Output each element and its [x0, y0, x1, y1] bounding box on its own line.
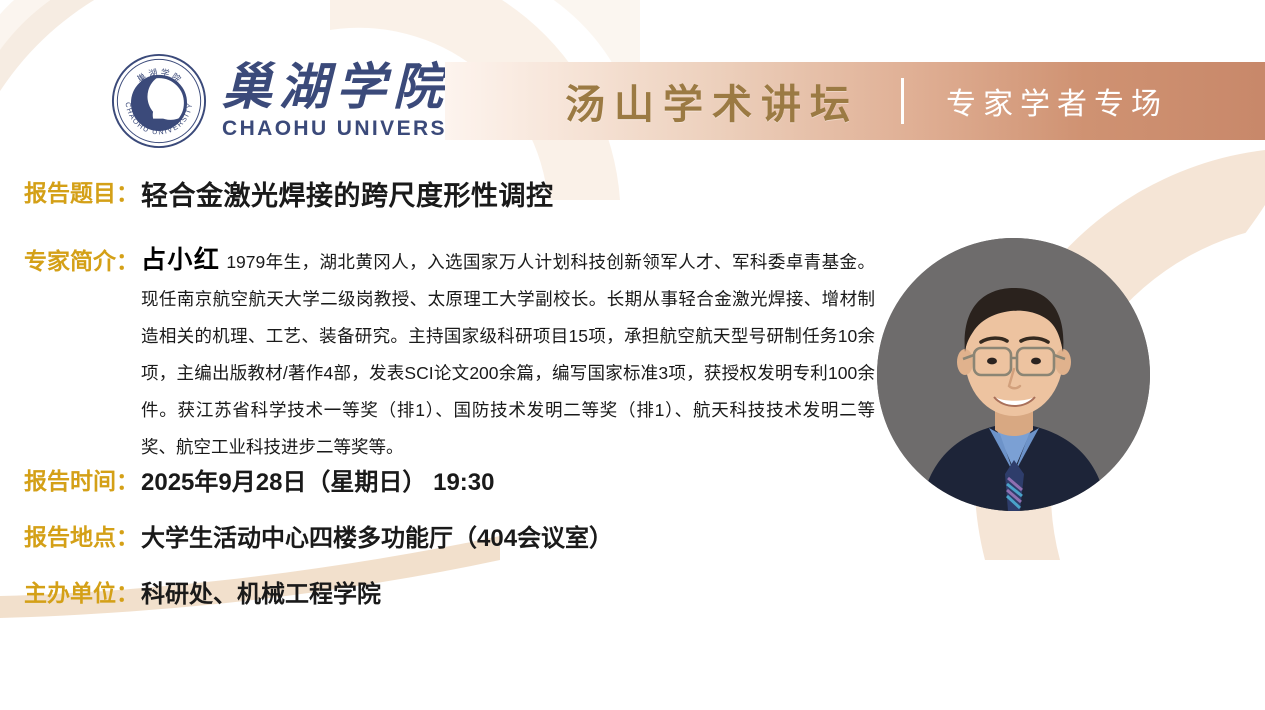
value-report-time: 2025年9月28日（星期日） 19:30 [141, 462, 494, 497]
speaker-bio-text: 1979年生，湖北黄冈人，入选国家万人计划科技创新领军人才、军科委卓青基金。现任… [141, 252, 875, 457]
svg-text:巢 湖 学 院: 巢 湖 学 院 [135, 66, 184, 84]
label-report-time: 报告时间： [24, 462, 139, 496]
forum-banner-title: 汤山学术讲坛 [565, 72, 859, 130]
label-host-organization: 主办单位： [24, 574, 139, 608]
row-report-time: 报告时间： 2025年9月28日（星期日） 19:30 [24, 462, 494, 497]
row-speaker-bio: 专家简介： 占小红1979年生，湖北黄冈人，入选国家万人计划科技创新领军人才、军… [24, 242, 884, 466]
label-report-title: 报告题目： [24, 174, 139, 208]
speaker-bio-body: 占小红1979年生，湖北黄冈人，入选国家万人计划科技创新领军人才、军科委卓青基金… [141, 242, 875, 466]
row-report-place: 报告地点： 大学生活动中心四楼多功能厅（404会议室） [24, 518, 613, 553]
label-speaker-bio: 专家简介： [24, 242, 139, 276]
university-seal-icon: 1977 巢 湖 学 院 CHAOHU UNIVERSITY [110, 52, 208, 150]
university-logo: 1977 巢 湖 学 院 CHAOHU UNIVERSITY 巢湖学院 CHAO… [110, 52, 487, 150]
svg-text:1977: 1977 [154, 109, 165, 115]
banner-divider [901, 78, 904, 124]
label-report-place: 报告地点： [24, 518, 139, 552]
speaker-portrait [877, 238, 1150, 511]
value-report-place: 大学生活动中心四楼多功能厅（404会议室） [141, 518, 613, 553]
value-host-organization: 科研处、机械工程学院 [141, 574, 381, 609]
speaker-portrait-image [877, 238, 1150, 511]
seminar-poster: 1977 巢 湖 学 院 CHAOHU UNIVERSITY 巢湖学院 CHAO… [0, 0, 1265, 710]
speaker-name: 占小红 [141, 246, 220, 274]
poster-header: 1977 巢 湖 学 院 CHAOHU UNIVERSITY 巢湖学院 CHAO… [0, 0, 1265, 160]
row-report-title: 报告题目： 轻合金激光焊接的跨尺度形性调控 [24, 174, 554, 213]
forum-banner: 汤山学术讲坛 专家学者专场 [445, 62, 1265, 140]
row-host-organization: 主办单位： 科研处、机械工程学院 [24, 574, 381, 609]
forum-banner-subtitle: 专家学者专场 [946, 79, 1168, 123]
value-report-title: 轻合金激光焊接的跨尺度形性调控 [141, 174, 554, 213]
